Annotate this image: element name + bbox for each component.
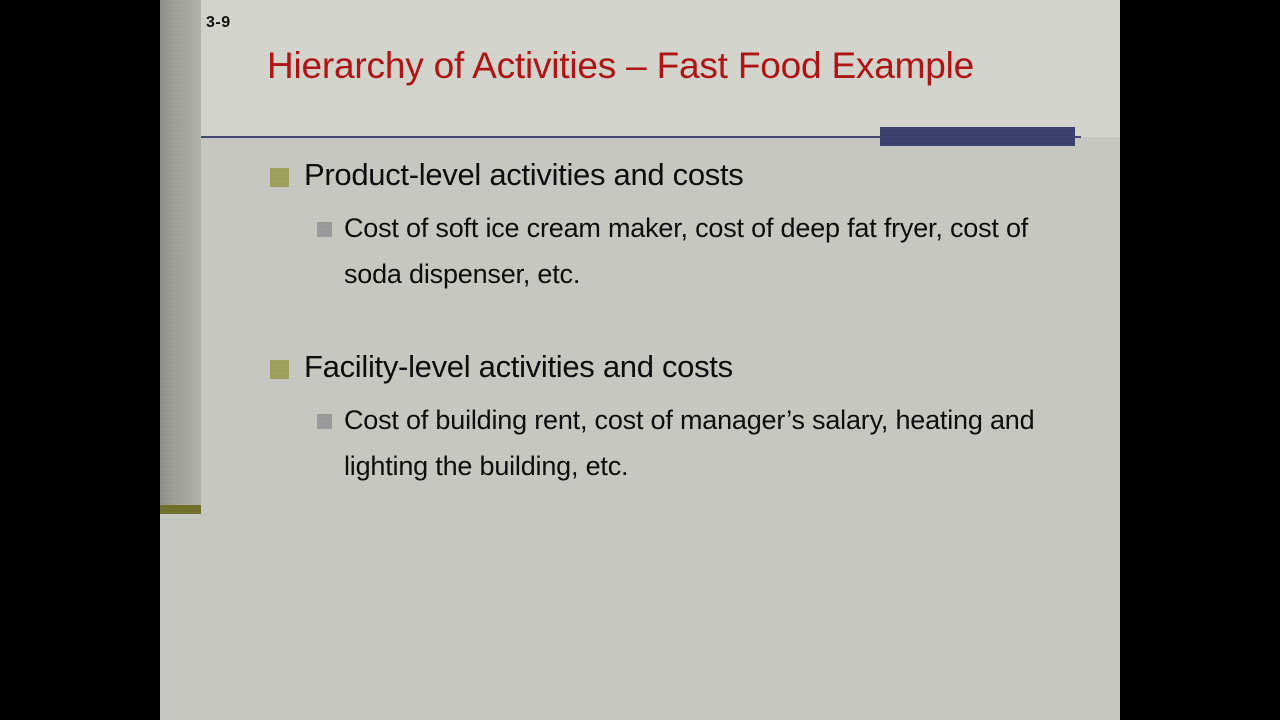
spacer [160, 387, 1120, 397]
bullet-level2-product-detail: Cost of soft ice cream maker, cost of de… [160, 205, 1120, 297]
bullet-level1-facility: Facility-level activities and costs [160, 347, 1120, 387]
navy-accent-block [880, 127, 1075, 146]
bullet-level2-facility-detail-label: Cost of building rent, cost of manager’s… [344, 405, 1034, 481]
bullet-level2-facility-detail: Cost of building rent, cost of manager’s… [160, 397, 1120, 489]
olive-square-bullet-icon [270, 360, 289, 379]
bullet-level1-product: Product-level activities and costs [160, 155, 1120, 195]
left-strip-olive-cap [160, 505, 201, 514]
bullet-level1-facility-label: Facility-level activities and costs [304, 349, 733, 384]
slide-body: Product-level activities and costs Cost … [160, 155, 1120, 489]
slide-number: 3-9 [206, 14, 231, 32]
presentation-slide: 3-9 Hierarchy of Activities – Fast Food … [160, 0, 1120, 720]
spacer [160, 297, 1120, 347]
slide-viewer: 3-9 Hierarchy of Activities – Fast Food … [0, 0, 1280, 720]
gray-square-bullet-icon [317, 414, 332, 429]
olive-square-bullet-icon [270, 168, 289, 187]
page-title: Hierarchy of Activities – Fast Food Exam… [267, 39, 1057, 92]
spacer [160, 195, 1120, 205]
gray-square-bullet-icon [317, 222, 332, 237]
bullet-level1-product-label: Product-level activities and costs [304, 157, 744, 192]
bullet-level2-product-detail-label: Cost of soft ice cream maker, cost of de… [344, 213, 1028, 289]
